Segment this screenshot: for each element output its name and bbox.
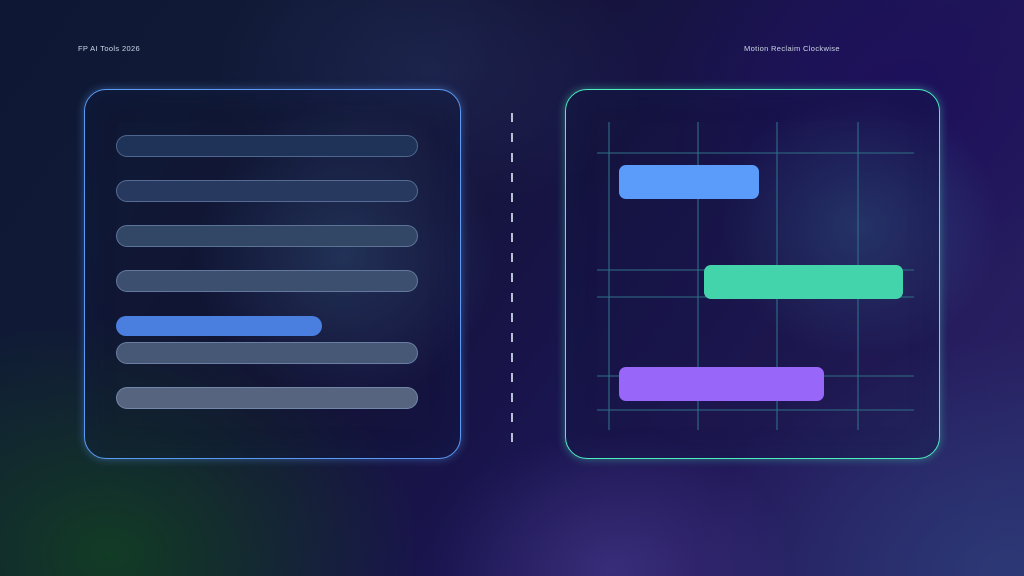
panel-divider xyxy=(511,113,513,450)
task-list-item-active[interactable] xyxy=(116,316,322,336)
gantt-bar-blue[interactable] xyxy=(619,165,759,199)
right-panel-caption: Motion Reclaim Clockwise xyxy=(744,44,840,53)
task-list-panel[interactable] xyxy=(84,89,461,459)
task-list-item[interactable] xyxy=(116,135,418,157)
gantt-svg xyxy=(566,90,941,460)
gantt-bar-teal[interactable] xyxy=(704,265,903,299)
task-list-item[interactable] xyxy=(116,225,418,247)
gantt-timeline-panel[interactable] xyxy=(565,89,940,459)
task-list-item[interactable] xyxy=(116,180,418,202)
gantt-chart xyxy=(566,90,941,460)
gantt-bar-purple[interactable] xyxy=(619,367,824,401)
task-list-item[interactable] xyxy=(116,270,418,292)
left-panel-caption: FP AI Tools 2026 xyxy=(78,44,140,53)
task-list-item[interactable] xyxy=(116,387,418,409)
task-list-item[interactable] xyxy=(116,342,418,364)
app-canvas: FP AI Tools 2026 Motion Reclaim Clockwis… xyxy=(0,0,1024,576)
